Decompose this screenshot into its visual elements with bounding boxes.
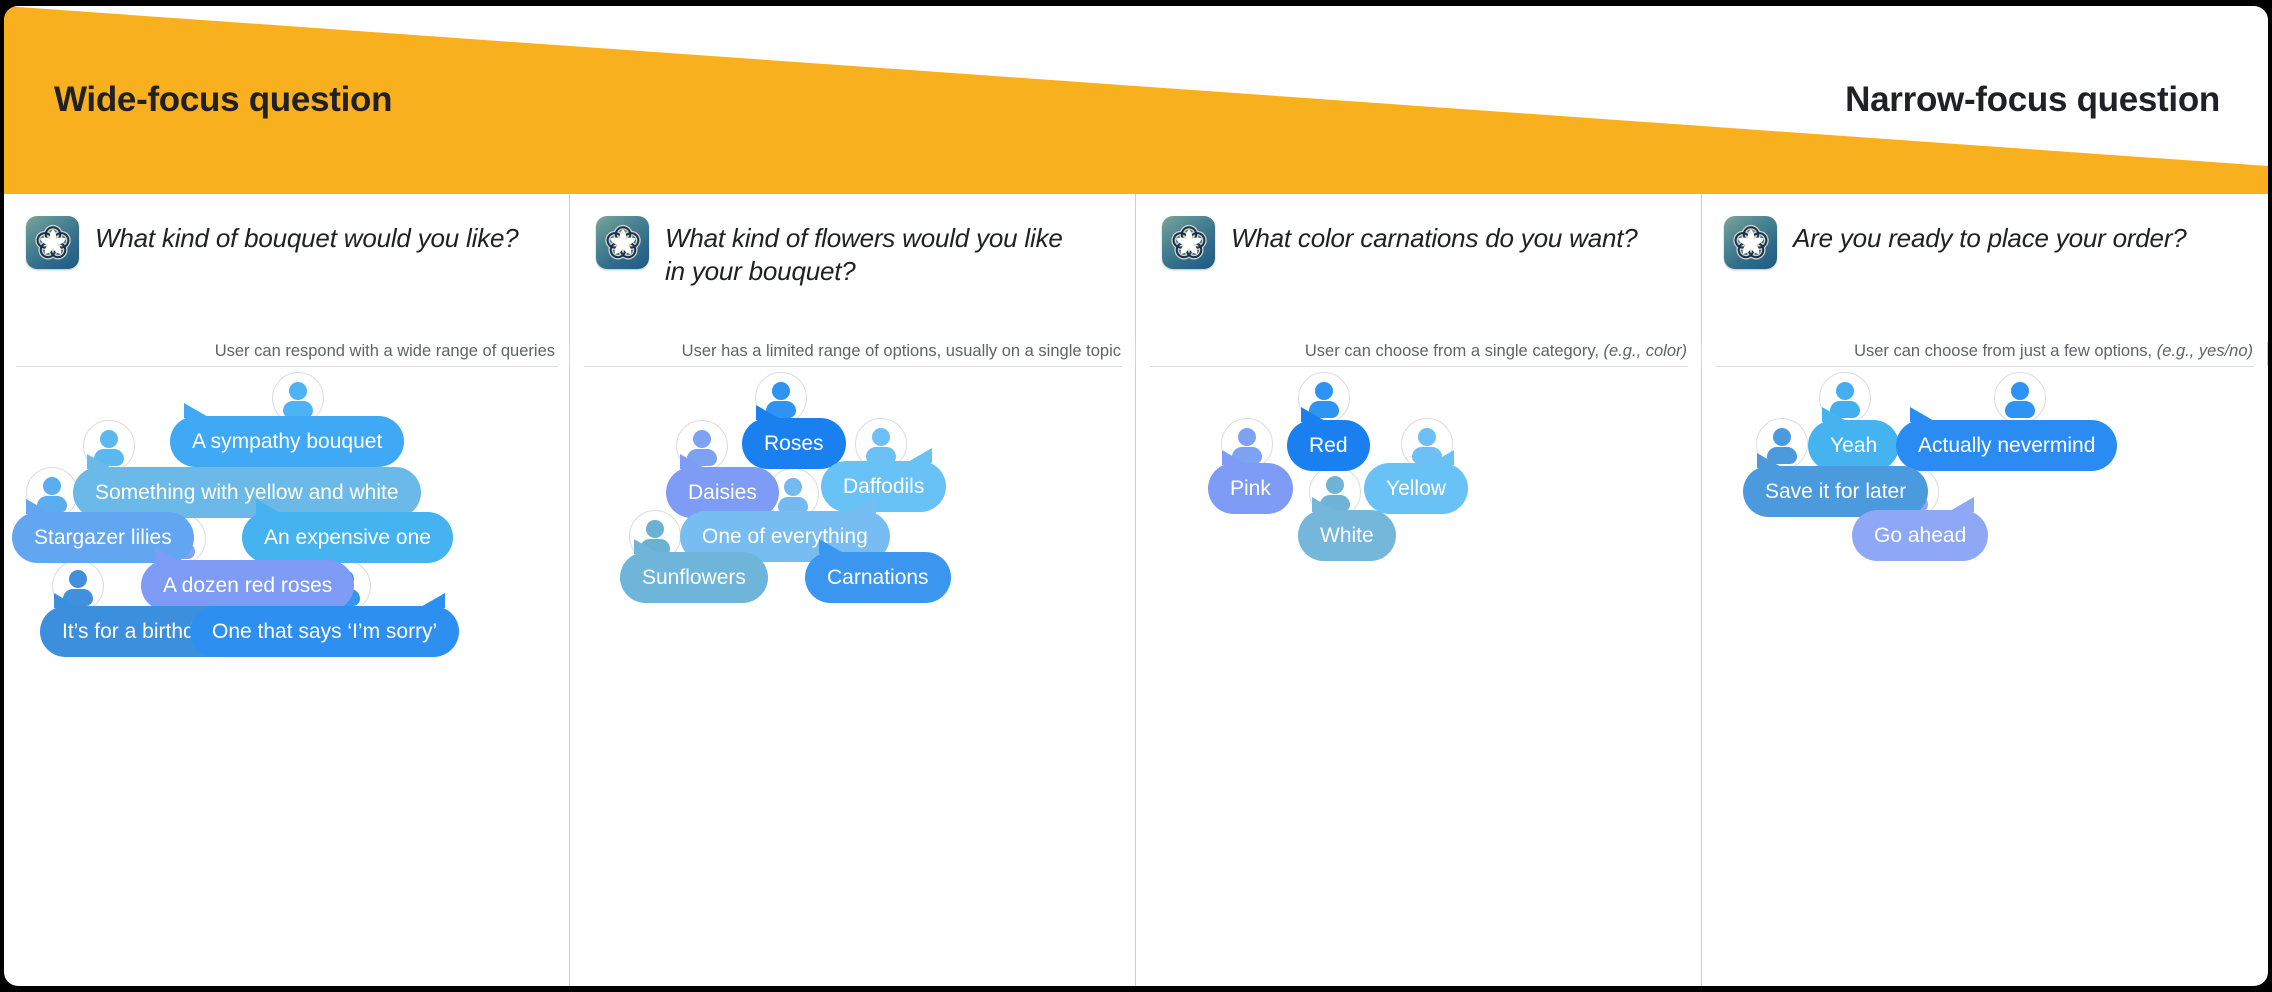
avatar-body [2005, 401, 2035, 418]
avatar-head [772, 382, 790, 400]
avatar-head [1773, 428, 1791, 446]
avatar-head [1238, 428, 1256, 446]
flower-rosette-icon [26, 216, 79, 269]
bubble-tail [1822, 407, 1848, 422]
avatar-head [784, 478, 802, 496]
response-bubble-cluster: YeahActually nevermindSave it for laterG… [1702, 370, 2268, 930]
avatar-head [100, 430, 118, 448]
response-bubble-label: Daisies [688, 481, 757, 504]
response-bubble[interactable]: Actually nevermind [1896, 420, 2117, 471]
flower-rosette-icon [1162, 216, 1215, 269]
column-caption: User can choose from just a few options,… [1854, 342, 2268, 366]
bubble-tail [54, 593, 80, 608]
response-bubble[interactable]: Pink [1208, 463, 1293, 514]
response-bubble[interactable]: A dozen red roses [141, 560, 354, 611]
response-bubble[interactable]: An expensive one [242, 512, 453, 563]
column-2: What kind of flowers would you like in y… [570, 194, 1136, 986]
response-bubble-label: Yeah [1830, 434, 1877, 457]
caption-block: User can choose from just a few options,… [1702, 342, 2268, 367]
response-bubble-label: Carnations [827, 566, 929, 589]
avatar-head [1315, 382, 1333, 400]
agent-question-text: What kind of flowers would you like in y… [665, 216, 1085, 288]
response-bubble-label: Roses [764, 432, 824, 455]
response-bubble-label: Yellow [1386, 477, 1446, 500]
bubble-tail [419, 593, 445, 608]
response-bubble[interactable]: Red [1287, 420, 1370, 471]
agent-question-text: What kind of bouquet would you like? [95, 216, 519, 255]
wide-focus-label: Wide-focus question [54, 80, 392, 120]
response-bubble-label: Daffodils [843, 475, 924, 498]
response-bubble-label: Red [1309, 434, 1348, 457]
response-bubble-label: White [1320, 524, 1374, 547]
caption-rule [16, 366, 558, 367]
columns-container: What kind of bouquet would you like?User… [4, 194, 2268, 986]
response-bubble-cluster: RosesDaisiesDaffodilsOne of everythingSu… [570, 370, 1136, 930]
bubble-tail [680, 454, 706, 469]
avatar-head [872, 428, 890, 446]
narrow-focus-label: Narrow-focus question [1845, 80, 2220, 120]
column-3: What color carnations do you want?User c… [1136, 194, 1702, 986]
column-1: What kind of bouquet would you like?User… [4, 194, 570, 986]
caption-block: User can respond with a wide range of qu… [4, 342, 570, 367]
caption-rule [584, 366, 1122, 367]
response-bubble-label: Go ahead [1874, 524, 1966, 547]
response-bubble-label: One that says ‘I’m sorry’ [212, 620, 437, 643]
response-bubble[interactable]: Carnations [805, 552, 951, 603]
bubble-tail [756, 405, 782, 420]
column-caption: User can respond with a wide range of qu… [215, 342, 570, 366]
caption-main-text: User has a limited range of options, usu… [682, 342, 1121, 360]
response-bubble[interactable]: White [1298, 510, 1396, 561]
question-row: What kind of bouquet would you like? [4, 194, 570, 269]
avatar-head [646, 520, 664, 538]
response-bubble[interactable]: Something with yellow and white [73, 467, 421, 518]
response-bubble-label: Stargazer lilies [34, 526, 172, 549]
bubble-tail [155, 547, 181, 562]
response-bubble-label: Sunflowers [642, 566, 746, 589]
response-bubble-label: A dozen red roses [163, 574, 332, 597]
response-bubble[interactable]: A sympathy bouquet [170, 416, 404, 467]
avatar-head [69, 570, 87, 588]
bubble-tail [1222, 450, 1248, 465]
caption-rule [1716, 366, 2254, 367]
bubble-tail [850, 498, 876, 513]
caption-italic-text: (e.g., yes/no) [2157, 342, 2253, 360]
response-bubble[interactable]: Yellow [1364, 463, 1468, 514]
question-row: What color carnations do you want? [1136, 194, 1702, 269]
caption-block: User can choose from a single category, … [1136, 342, 1702, 367]
caption-main-text: User can choose from a single category, [1305, 342, 1604, 360]
response-bubble-label: Save it for later [1765, 480, 1906, 503]
response-bubble[interactable]: One that says ‘I’m sorry’ [190, 606, 459, 657]
caption-block: User has a limited range of options, usu… [570, 342, 1136, 367]
bubble-tail [1428, 450, 1454, 465]
avatar-head [1836, 382, 1854, 400]
header-band: Wide-focus question Narrow-focus questio… [4, 6, 2268, 194]
avatar-head [693, 430, 711, 448]
avatar-head [1418, 428, 1436, 446]
flower-rosette-icon [596, 216, 649, 269]
question-row: What kind of flowers would you like in y… [570, 194, 1136, 288]
response-bubble[interactable]: Go ahead [1852, 510, 1988, 561]
bubble-tail [1757, 453, 1783, 468]
avatar-head [43, 477, 61, 495]
bubble-tail [184, 403, 210, 418]
bubble-tail [634, 539, 660, 554]
agent-question-text: What color carnations do you want? [1231, 216, 1638, 255]
caption-main-text: User can respond with a wide range of qu… [215, 342, 555, 360]
bubble-tail [1910, 407, 1936, 422]
avatar-head [289, 382, 307, 400]
response-bubble-cluster: A sympathy bouquetSomething with yellow … [4, 370, 570, 930]
avatar-head [2011, 382, 2029, 400]
response-bubble[interactable]: Roses [742, 418, 846, 469]
bubble-tail [906, 448, 932, 463]
response-bubble-label: Pink [1230, 477, 1271, 500]
caption-italic-text: (e.g., color) [1604, 342, 1687, 360]
response-bubble-label: Actually nevermind [1918, 434, 2095, 457]
column-caption: User has a limited range of options, usu… [682, 342, 1136, 366]
response-bubble-label: An expensive one [264, 526, 431, 549]
question-row: Are you ready to place your order? [1702, 194, 2268, 269]
bubble-tail [26, 499, 52, 514]
response-bubble-label: Something with yellow and white [95, 481, 399, 504]
bubble-tail [819, 539, 845, 554]
agent-question-text: Are you ready to place your order? [1793, 216, 2187, 255]
response-bubble-cluster: RedPinkYellowWhite [1136, 370, 1702, 930]
response-bubble-label: A sympathy bouquet [192, 430, 382, 453]
flower-rosette-icon [1724, 216, 1777, 269]
response-bubble[interactable]: Sunflowers [620, 552, 768, 603]
user-avatar-icon [1994, 372, 2046, 424]
bubble-tail [1301, 407, 1327, 422]
column-caption: User can choose from a single category, … [1305, 342, 1702, 366]
bubble-tail [1948, 497, 1974, 512]
column-4: Are you ready to place your order?User c… [1702, 194, 2268, 986]
response-bubble[interactable]: Yeah [1808, 420, 1899, 471]
bubble-tail [87, 454, 113, 469]
response-bubble[interactable]: Daffodils [821, 461, 946, 512]
avatar-head [1326, 476, 1344, 494]
bubble-tail [256, 499, 282, 514]
diagram-card: Wide-focus question Narrow-focus questio… [4, 6, 2268, 986]
bubble-tail [1312, 497, 1338, 512]
caption-rule [1150, 366, 1688, 367]
caption-main-text: User can choose from just a few options, [1854, 342, 2157, 360]
